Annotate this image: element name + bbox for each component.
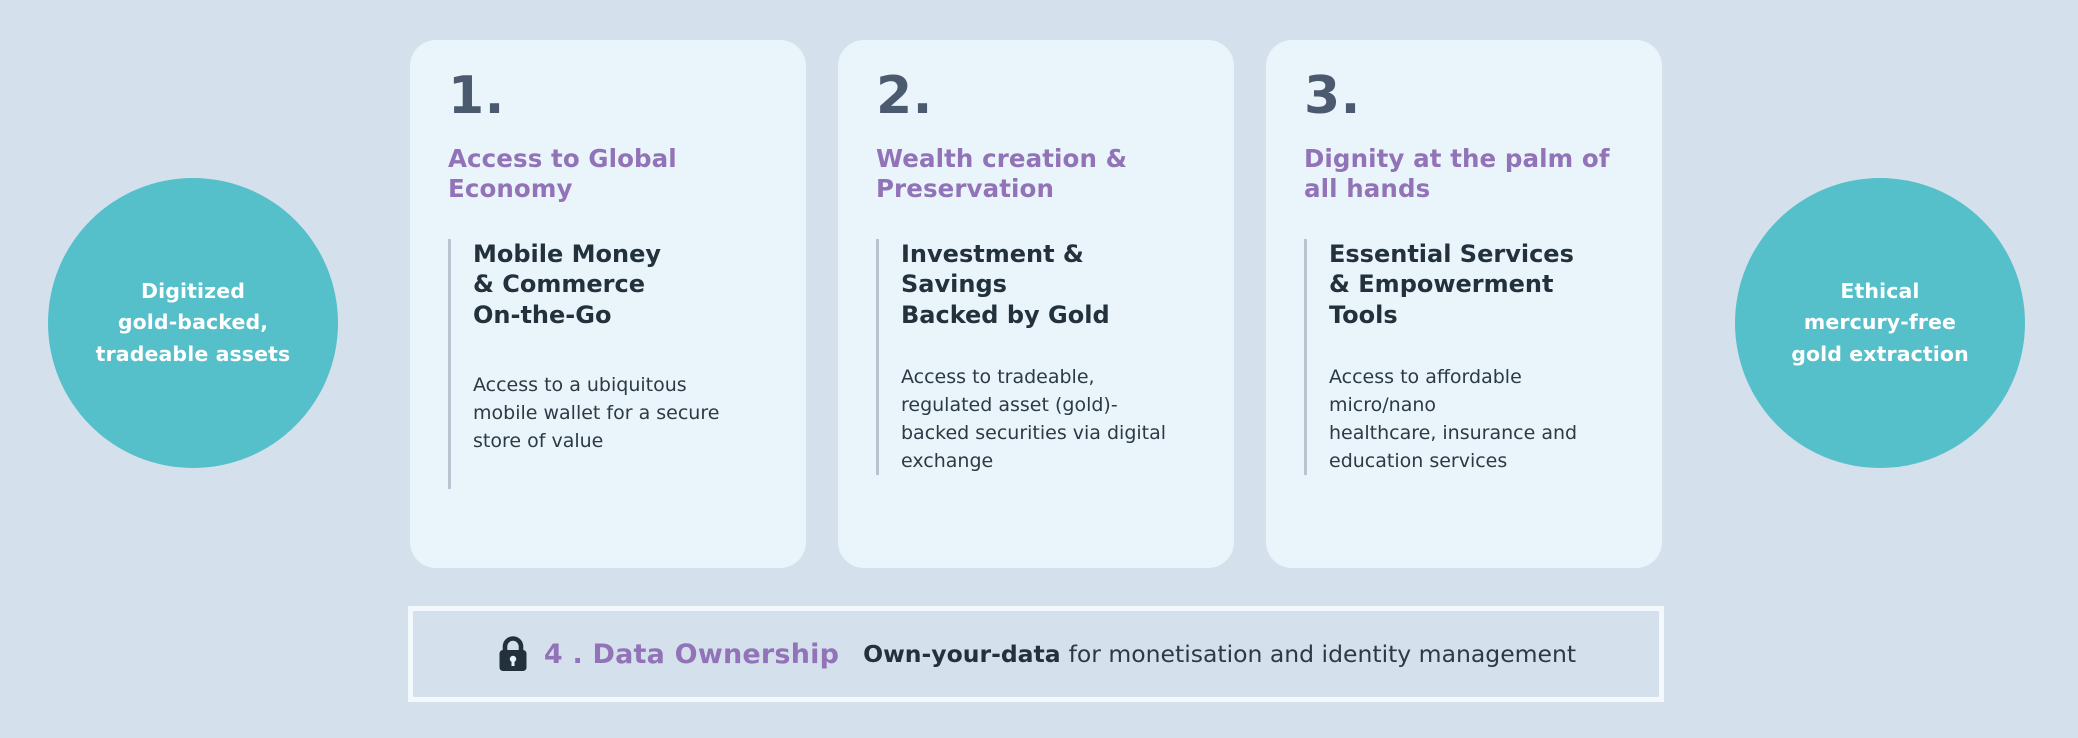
data-ownership-content: 4 . Data Ownership Own-your-data for mon… (496, 635, 1576, 673)
left-circle-line-3: tradeable assets (96, 339, 291, 370)
right-circle-badge: Ethical mercury-free gold extraction (1735, 178, 2025, 468)
card-number: 1. (448, 70, 768, 122)
card-body: Investment & Savings Backed by Gold Acce… (876, 239, 1196, 476)
left-circle-line-1: Digitized (96, 276, 291, 307)
card-title: Dignity at the palm of all hands (1304, 144, 1624, 205)
card-title: Access to Global Economy (448, 144, 768, 205)
card-subtitle: Mobile Money & Commerce On-the-Go (473, 239, 768, 331)
card-title: Wealth creation & Preservation (876, 144, 1196, 205)
card-subtitle: Essential Services & Empowerment Tools (1329, 239, 1624, 331)
card-body: Mobile Money & Commerce On-the-Go Access… (448, 239, 768, 489)
card-access-to-global-economy: 1. Access to Global Economy Mobile Money… (410, 40, 806, 568)
right-circle-line-1: Ethical (1791, 276, 1969, 307)
data-ownership-strong-text: Own-your-data (863, 640, 1060, 668)
data-ownership-label: 4 . Data Ownership (544, 639, 839, 670)
card-description: Access to a ubiquitous mobile wallet for… (473, 371, 768, 455)
data-ownership-rest-text: for monetisation and identity management (1069, 640, 1577, 668)
left-circle-badge: Digitized gold-backed, tradeable assets (48, 178, 338, 468)
card-wealth-creation-preservation: 2. Wealth creation & Preservation Invest… (838, 40, 1234, 568)
left-circle-line-2: gold-backed, (96, 307, 291, 338)
card-body: Essential Services & Empowerment Tools A… (1304, 239, 1624, 476)
card-dignity-at-the-palm-of-all-hands: 3. Dignity at the palm of all hands Esse… (1266, 40, 1662, 568)
card-number: 2. (876, 70, 1196, 122)
card-description: Access to affordable micro/nano healthca… (1329, 363, 1624, 475)
infographic-canvas: Digitized gold-backed, tradeable assets … (0, 0, 2078, 738)
data-ownership-bar: 4 . Data Ownership Own-your-data for mon… (408, 606, 1664, 702)
right-circle-line-3: gold extraction (1791, 339, 1969, 370)
card-subtitle: Investment & Savings Backed by Gold (901, 239, 1196, 331)
left-circle-text: Digitized gold-backed, tradeable assets (74, 276, 313, 369)
right-circle-text: Ethical mercury-free gold extraction (1769, 276, 1991, 369)
lock-icon (496, 635, 530, 673)
right-circle-line-2: mercury-free (1791, 307, 1969, 338)
card-number: 3. (1304, 70, 1624, 122)
card-description: Access to tradeable, regulated asset (go… (901, 363, 1196, 475)
